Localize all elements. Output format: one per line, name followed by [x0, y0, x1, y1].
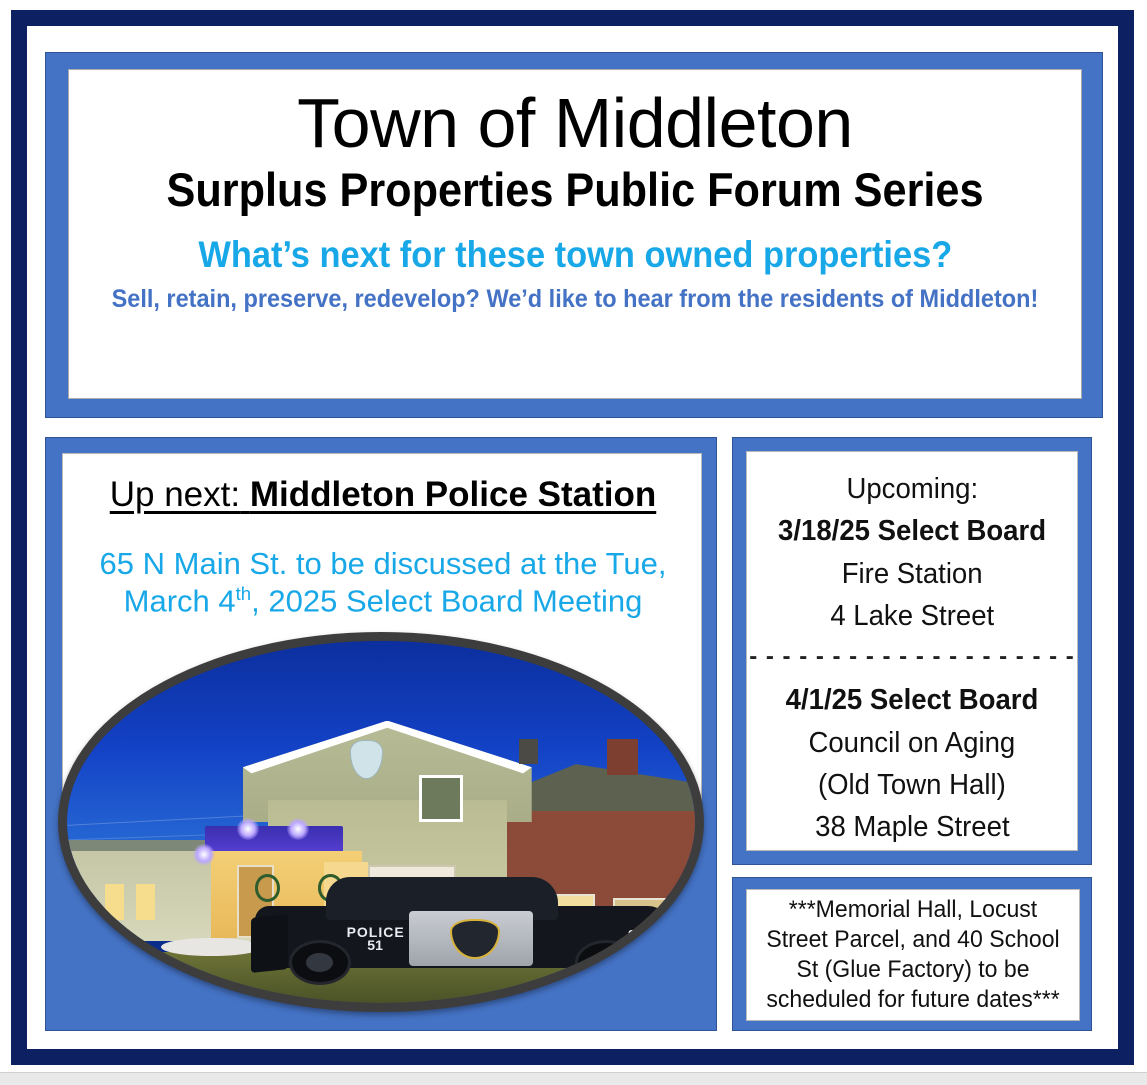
cruiser-emergency-number: 911 — [628, 927, 649, 942]
meeting-date-suffix: , 2025 Select Board Meeting — [251, 583, 642, 618]
event-2-venue-alt: (Old Town Hall) — [818, 764, 1006, 806]
page-title: Town of Middleton — [297, 84, 853, 162]
events-divider: - - - - - - - - - - - - - - - - - - - - — [749, 645, 1075, 669]
cruiser-open-door — [251, 914, 288, 973]
poster-root: Town of Middleton Surplus Properties Pub… — [0, 0, 1147, 1084]
cruiser-tail-light — [649, 948, 661, 956]
up-next-label: Up next: — [110, 475, 240, 514]
future-dates-text: ***Memorial Hall, Locust Street Parcel, … — [763, 895, 1063, 1015]
header-text-box: Town of Middleton Surplus Properties Pub… — [68, 69, 1082, 399]
cruiser-rear-hubcap — [592, 953, 619, 972]
upcoming-panel: Upcoming: 3/18/25 Select Board Fire Stat… — [732, 437, 1092, 865]
event-2-venue: Council on Aging — [809, 722, 1016, 764]
up-next-value: Middleton Police Station — [250, 475, 656, 514]
photo-snow-patch — [161, 938, 261, 956]
photo-wing-window — [105, 884, 124, 920]
meeting-details: 65 N Main St. to be discussed at the Tue… — [79, 546, 687, 619]
photo-wing-window-2 — [136, 884, 155, 920]
header-panel: Town of Middleton Surplus Properties Pub… — [45, 52, 1103, 418]
page-subtitle: Surplus Properties Public Forum Series — [167, 164, 984, 216]
meeting-address-line-2: March 4th, 2025 Select Board Meeting — [79, 583, 687, 620]
header-note: Sell, retain, preserve, redevelop? We’d … — [112, 285, 1039, 314]
cruiser-front-hubcap — [306, 953, 333, 972]
meeting-address-line-1: 65 N Main St. to be discussed at the Tue… — [79, 546, 687, 583]
cruiser-front-wheel — [289, 940, 351, 985]
photo-brick-chimney — [607, 739, 638, 775]
photo-police-cruiser: POLICE 51 911 — [255, 865, 669, 984]
page-bottom-strip — [0, 1072, 1147, 1085]
event-2-address: 38 Maple Street — [815, 806, 1009, 848]
photo-blue-light-3 — [193, 844, 215, 866]
upcoming-text-box: Upcoming: 3/18/25 Select Board Fire Stat… — [746, 451, 1078, 851]
header-question: What’s next for these town owned propert… — [198, 234, 952, 277]
event-1-venue: Fire Station — [842, 553, 983, 595]
future-dates-panel: ***Memorial Hall, Locust Street Parcel, … — [732, 877, 1092, 1031]
photo-blue-light-1 — [237, 818, 259, 840]
photo-upper-window — [419, 775, 463, 822]
police-station-photo: POLICE 51 911 — [58, 632, 704, 1012]
upcoming-heading: Upcoming: — [846, 468, 978, 510]
photo-blue-light-2 — [287, 818, 309, 840]
cruiser-unit-number: 51 — [367, 937, 383, 953]
up-next-heading: Up next: Middleton Police Station — [83, 476, 683, 515]
cruiser-rear-wheel — [575, 940, 637, 985]
future-dates-box: ***Memorial Hall, Locust Street Parcel, … — [746, 889, 1080, 1021]
meeting-date-prefix: March 4 — [124, 583, 236, 618]
ordinal-suffix: th — [236, 583, 252, 604]
event-2-date: 4/1/25 Select Board — [786, 679, 1039, 721]
event-1-date: 3/18/25 Select Board — [778, 510, 1046, 552]
event-1-address: 4 Lake Street — [830, 595, 994, 637]
photo-chimney — [519, 739, 538, 764]
